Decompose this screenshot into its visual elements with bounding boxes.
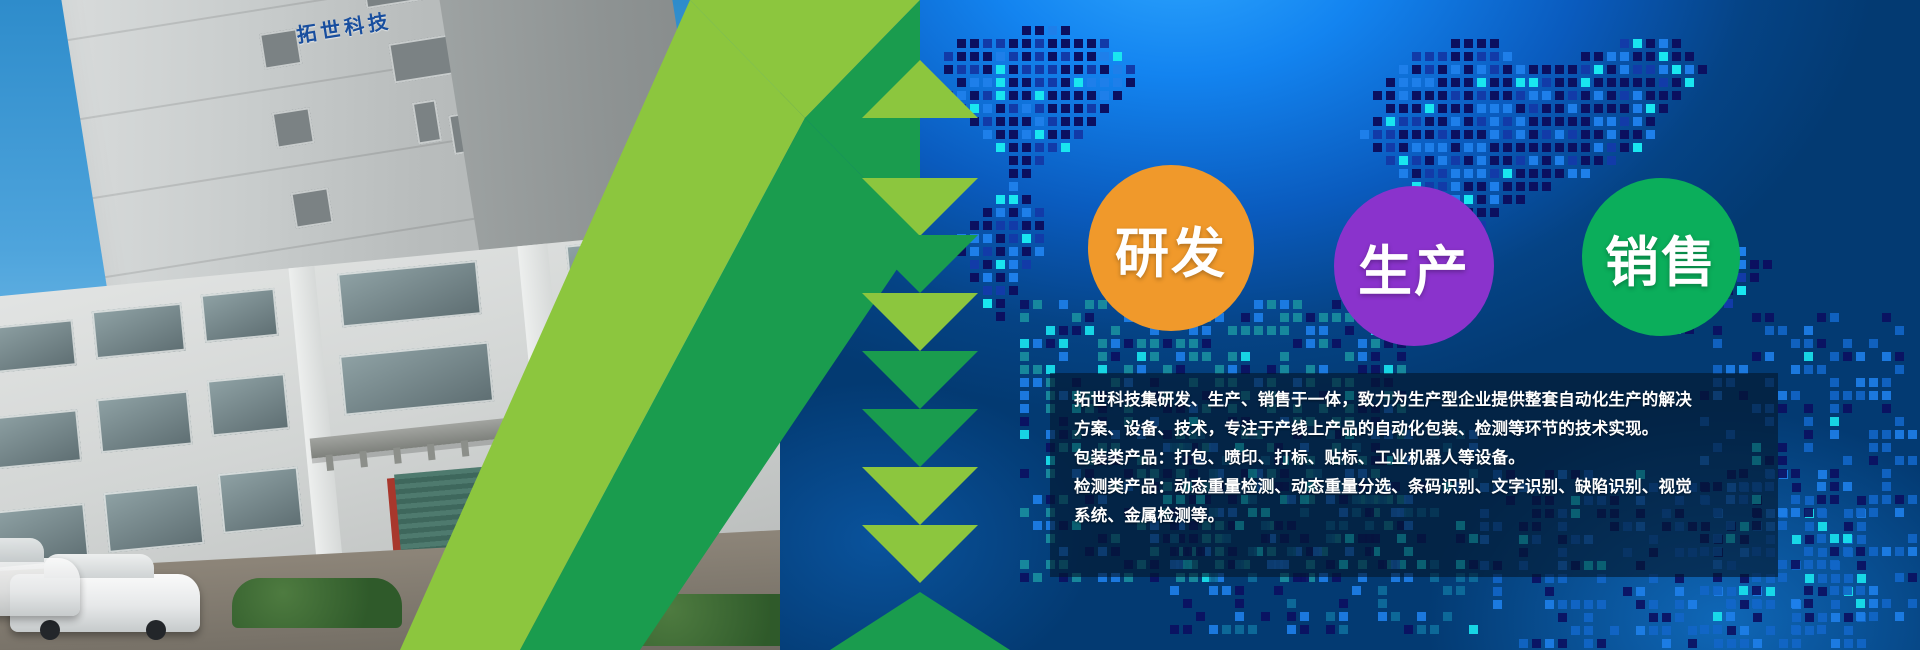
parked-car bbox=[0, 558, 80, 616]
pillar-circle-sales[interactable]: 销售 bbox=[1582, 178, 1740, 336]
description-line-4: 检测类产品：动态重量检测、动态重量分选、条码识别、文字识别、缺陷识别、视觉 bbox=[1074, 472, 1756, 501]
hedge bbox=[232, 578, 402, 628]
description-line-5: 系统、金属检测等。 bbox=[1074, 501, 1756, 530]
company-description-box: 拓世科技集研发、生产、销售于一体，致力为生产型企业提供整套自动化生产的解决 方案… bbox=[1050, 373, 1778, 577]
description-line-3: 包装类产品：打包、喷印、打标、贴标、工业机器人等设备。 bbox=[1074, 443, 1756, 472]
factory-photo: 拓世科技 bbox=[0, 0, 780, 650]
description-line-1: 拓世科技集研发、生产、销售于一体，致力为生产型企业提供整套自动化生产的解决 bbox=[1074, 385, 1756, 414]
pillar-circle-production[interactable]: 生产 bbox=[1334, 186, 1494, 346]
company-hero-banner: 拓世科技 bbox=[0, 0, 1920, 650]
description-line-2: 方案、设备、技术，专注于产线上产品的自动化包装、检测等环节的技术实现。 bbox=[1074, 414, 1756, 443]
pillar-circle-research[interactable]: 研发 bbox=[1088, 165, 1254, 331]
hedge bbox=[610, 594, 780, 646]
